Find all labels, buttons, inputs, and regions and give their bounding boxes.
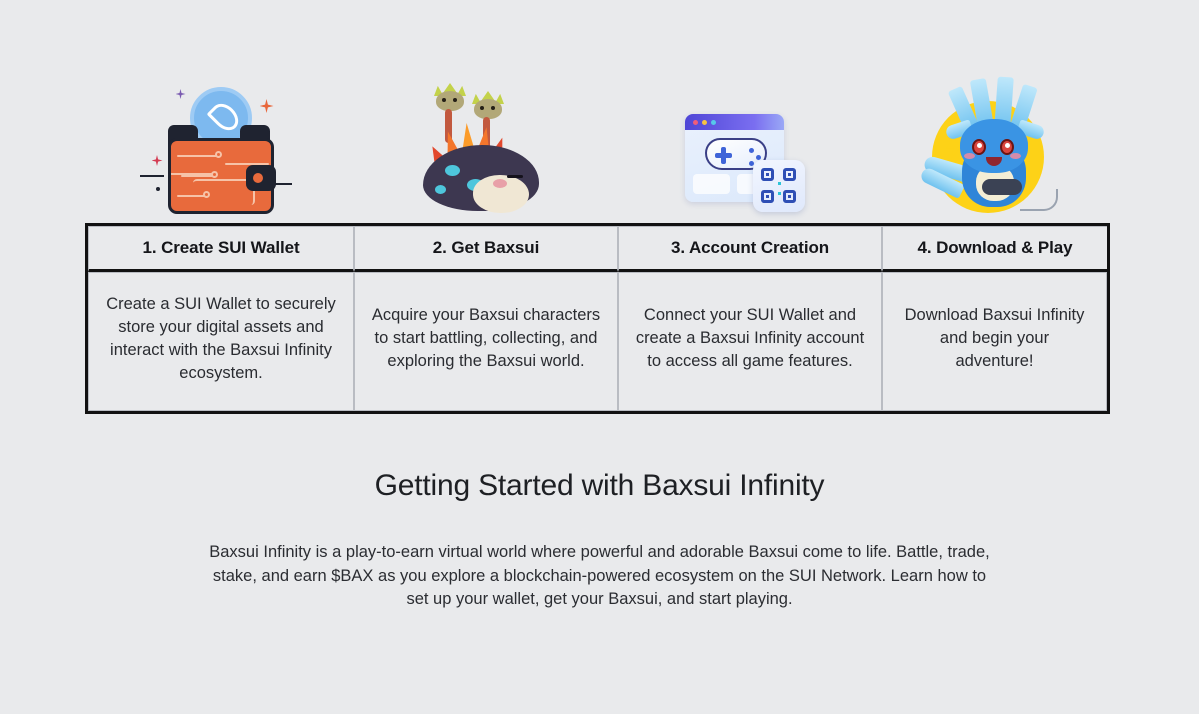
steps-table: 1. Create SUI Wallet 2. Get Baxsui 3. Ac…: [85, 223, 1110, 414]
content-tile: [693, 174, 730, 194]
circuit-trace: [181, 175, 215, 177]
circuit-node: [211, 171, 218, 178]
hero-eye-left: [972, 139, 986, 155]
steps-table-body: Create a SUI Wallet to securely store yo…: [88, 272, 1107, 411]
table-row: Create a SUI Wallet to securely store yo…: [88, 272, 1107, 411]
circuit-trace: [177, 195, 207, 197]
qr-pip: [778, 192, 781, 195]
gamepad-button: [749, 148, 754, 153]
circuit-node: [215, 151, 222, 158]
bird-eye: [480, 106, 484, 110]
sui-droplet-icon: [206, 99, 243, 136]
illustration-cell-2: [351, 78, 616, 218]
intro-paragraph: Baxsui Infinity is a play-to-earn virtua…: [205, 541, 995, 612]
step-header-1: 1. Create SUI Wallet: [88, 226, 354, 272]
creature-eye: [507, 175, 523, 178]
hero-gamepad-icon: [982, 179, 1022, 195]
body-spot: [445, 165, 460, 176]
window-minimize-dot: [702, 120, 707, 125]
step-description-text: Acquire your Baxsui characters to start …: [371, 304, 601, 373]
bird-head: [474, 99, 502, 119]
qr-finder: [761, 190, 774, 203]
creature-cheek: [493, 179, 507, 188]
hero-blush-right: [1010, 153, 1021, 159]
account-browser-illustration: [685, 108, 810, 218]
bird-eye: [442, 98, 446, 102]
step-description-1: Create a SUI Wallet to securely store yo…: [88, 272, 354, 411]
qr-finder: [783, 168, 796, 181]
step-header-3: 3. Account Creation: [618, 226, 882, 272]
diamond-icon: [152, 155, 163, 166]
qr-code-icon: [753, 160, 805, 212]
qr-pip: [778, 182, 781, 185]
step-description-4: Download Baxsui Infinity and begin your …: [882, 272, 1107, 411]
bird-eye: [491, 106, 495, 110]
window-close-dot: [693, 120, 698, 125]
wallet-clasp: [246, 165, 276, 191]
step-description-2: Acquire your Baxsui characters to start …: [354, 272, 618, 411]
step-description-text: Download Baxsui Infinity and begin your …: [899, 304, 1090, 373]
step-header-4: 4. Download & Play: [882, 226, 1107, 272]
circuit-node: [203, 191, 210, 198]
sparkle-icon: [260, 99, 274, 113]
steps-table-head: 1. Create SUI Wallet 2. Get Baxsui 3. Ac…: [88, 226, 1107, 272]
qr-finder: [761, 168, 774, 181]
step-description-3: Connect your SUI Wallet and create a Bax…: [618, 272, 882, 411]
baxsui-creature-illustration: [411, 83, 556, 218]
getting-started-page: 1. Create SUI Wallet 2. Get Baxsui 3. Ac…: [0, 0, 1199, 714]
sparkle-icon: [176, 89, 186, 99]
illustration-row: [86, 78, 1103, 218]
table-header-row: 1. Create SUI Wallet 2. Get Baxsui 3. Ac…: [88, 226, 1107, 272]
illustration-cell-3: [616, 78, 879, 218]
step-description-text: Create a SUI Wallet to securely store yo…: [105, 293, 337, 385]
circuit-trace: [177, 155, 217, 157]
body-spot: [435, 185, 446, 194]
qr-finder: [783, 190, 796, 203]
bird-head: [436, 91, 464, 111]
download-play-illustration: [916, 83, 1066, 218]
gamepad-cord: [1020, 189, 1058, 211]
step-description-text: Connect your SUI Wallet and create a Bax…: [635, 304, 865, 373]
bird-eye: [453, 98, 457, 102]
sui-wallet-illustration: [154, 83, 284, 218]
illustration-cell-1: [86, 78, 351, 218]
page-title: Getting Started with Baxsui Infinity: [0, 469, 1199, 503]
dpad-vertical: [721, 147, 726, 164]
browser-title-bar: [685, 114, 784, 130]
hero-blush-left: [964, 153, 975, 159]
step-header-2: 2. Get Baxsui: [354, 226, 618, 272]
dash-decoration: [140, 175, 164, 177]
dot-decoration: [156, 187, 160, 191]
dash-decoration: [274, 183, 292, 185]
illustration-cell-4: [879, 78, 1103, 218]
window-maximize-dot: [711, 120, 716, 125]
